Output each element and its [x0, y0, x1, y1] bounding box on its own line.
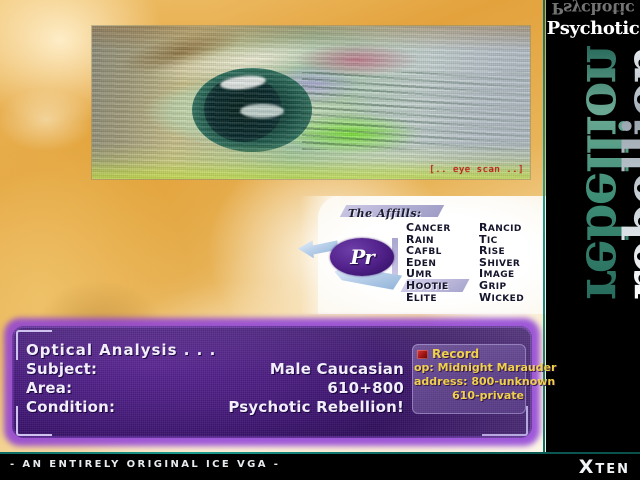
analysis-value: Male Caucasian: [270, 360, 404, 379]
status-bar-divider: [0, 452, 640, 454]
demoscene-vga-screen: [.. eye scan ..] The Affills: Pr Cancer …: [0, 0, 640, 480]
analysis-label: Condition:: [26, 398, 115, 417]
record-line-address: address: 800-unknown: [414, 375, 524, 389]
record-line-op: op: Midnight Marauder: [414, 361, 524, 375]
status-bar-tagline: - AN ENTIRELY ORIGINAL ICE VGA -: [10, 459, 280, 470]
analysis-row-subject: Subject: Male Caucasian: [26, 360, 404, 379]
record-title: Record: [432, 347, 479, 361]
right-title-panel: Psychotic Psychotic rebellion rebellion: [546, 0, 640, 452]
status-bar-brand: XTEN: [579, 456, 630, 478]
analysis-readout: Optical Analysis . . . Subject: Male Cau…: [26, 341, 404, 417]
affills-column-one: Cancer Rain Cafbl Eden Umr Hootie Elite: [406, 223, 451, 304]
affill-item: Shiver: [479, 258, 524, 270]
analysis-label: Area:: [26, 379, 72, 398]
psychotic-header-reflection: Psychotic: [546, 0, 640, 17]
record-line-address-2: 610-private: [414, 389, 524, 403]
affills-title: The Affills:: [348, 207, 422, 220]
record-details: op: Midnight Marauder address: 800-unkno…: [414, 361, 524, 403]
brand-initial: X: [579, 456, 596, 478]
brand-rest: TEN: [595, 462, 630, 477]
eye-scan-label: [.. eye scan ..]: [429, 165, 524, 175]
analysis-row-condition: Condition: Psychotic Rebellion!: [26, 398, 404, 417]
pr-logo-text: Pr: [330, 238, 394, 276]
affill-item: Elite: [406, 293, 451, 305]
analysis-label: Subject:: [26, 360, 97, 379]
record-flag-icon: [417, 350, 428, 359]
pr-group-logo: Pr: [330, 238, 394, 276]
affill-item: Wicked: [479, 293, 524, 305]
eye-scanline-streaks: [92, 26, 530, 179]
analysis-row-area: Area: 610+800: [26, 379, 404, 398]
psychotic-header: Psychotic: [546, 16, 640, 40]
eye-scan-image: [.. eye scan ..]: [92, 26, 530, 179]
analysis-value: 610+800: [327, 379, 404, 398]
analysis-heading: Optical Analysis . . .: [26, 341, 216, 359]
rebellion-vertical-title: rebellion: [612, 46, 640, 300]
analysis-heading-row: Optical Analysis . . .: [26, 341, 404, 360]
affills-column-two: Rancid Tic Rise Shiver Image Grip Wicked: [479, 223, 524, 304]
analysis-value: Psychotic Rebellion!: [228, 398, 404, 417]
